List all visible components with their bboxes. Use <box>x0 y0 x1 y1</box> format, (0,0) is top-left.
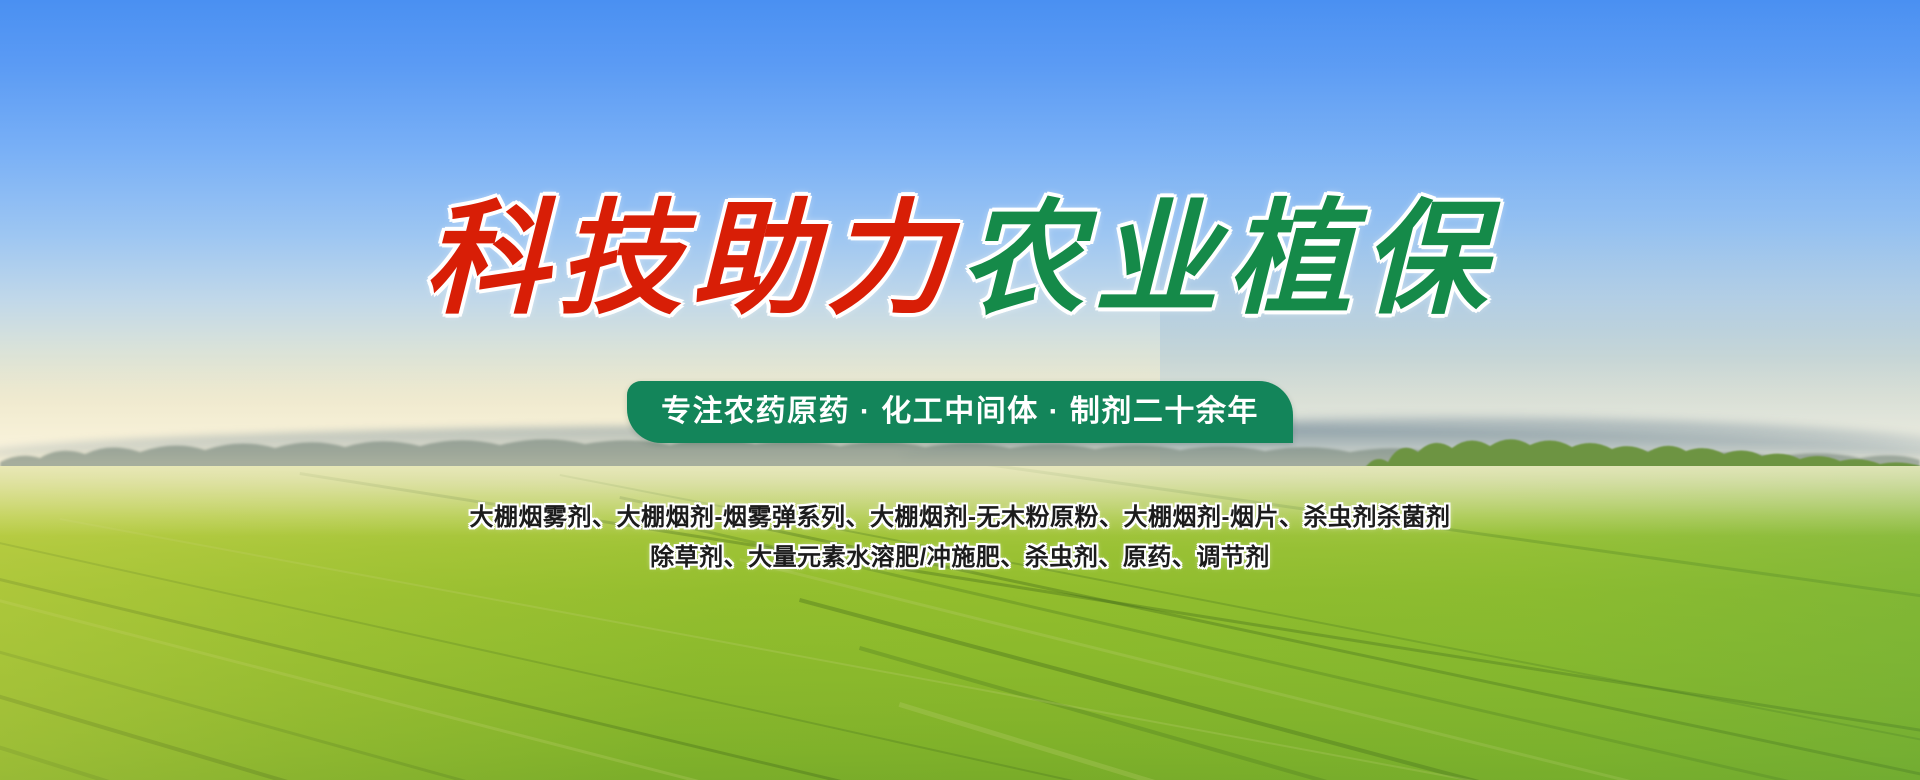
tagline-badge: 专注农药原药 · 化工中间体 · 制剂二十余年 <box>627 381 1293 443</box>
tagline-badge-container: 专注农药原药 · 化工中间体 · 制剂二十余年 <box>0 381 1920 443</box>
product-line-2: 除草剂、大量元素水溶肥/冲施肥、杀虫剂、原药、调节剂 <box>0 538 1920 578</box>
product-line-1: 大棚烟雾剂、大棚烟剂-烟雾弹系列、大棚烟剂-无木粉原粉、大棚烟剂-烟片、杀虫剂杀… <box>0 498 1920 538</box>
banner-headline: 科技助力农业植保 <box>0 186 1920 336</box>
headline-part-red: 科技助力 <box>424 186 960 336</box>
product-list: 大棚烟雾剂、大棚烟剂-烟雾弹系列、大棚烟剂-无木粉原粉、大棚烟剂-烟片、杀虫剂杀… <box>0 498 1920 578</box>
hero-banner: 科技助力农业植保 专注农药原药 · 化工中间体 · 制剂二十余年 大棚烟雾剂、大… <box>0 0 1920 780</box>
headline-part-green: 农业植保 <box>960 186 1496 336</box>
